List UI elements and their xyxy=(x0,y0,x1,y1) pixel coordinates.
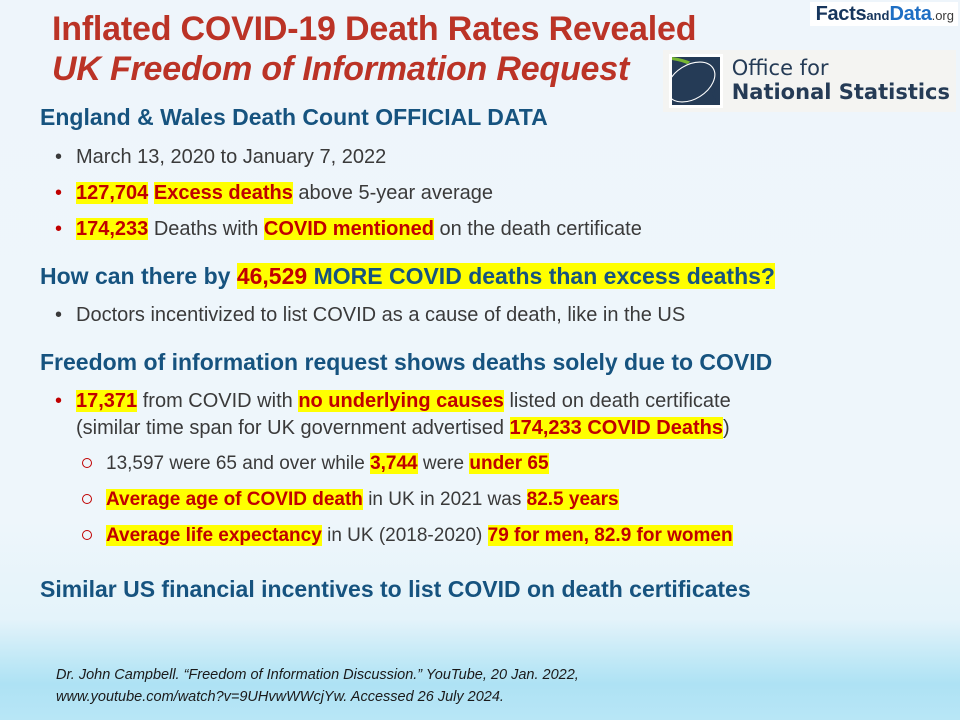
bullet-text: 17,371 from COVID with no underlying cau… xyxy=(76,390,930,441)
heading-question: How can there by 46,529 MORE COVID death… xyxy=(40,263,930,291)
brand-facts-text: Facts xyxy=(816,3,867,25)
bullet-no-underlying-causes: • 17,371 from COVID with no underlying c… xyxy=(40,388,930,441)
bullet-dot-icon: • xyxy=(55,144,62,170)
subbullet-text: 13,597 were 65 and over while 3,744 were… xyxy=(106,453,549,474)
bullet-dot-icon: • xyxy=(55,180,62,206)
bullet-doctors-incentivized: • Doctors incentivized to list COVID as … xyxy=(40,302,930,328)
heading-foi: Freedom of information request shows dea… xyxy=(40,349,930,377)
bullet-covid-mentioned: • 174,233 Deaths with COVID mentioned on… xyxy=(40,216,930,242)
official-bullet-list: • March 13, 2020 to January 7, 2022 • 12… xyxy=(40,144,930,243)
subbullet-circle-icon xyxy=(82,458,92,468)
brand-org-text: .org xyxy=(932,8,954,23)
bullet-text: 174,233 Deaths with COVID mentioned on t… xyxy=(76,218,642,240)
question-bullet-list: • Doctors incentivized to list COVID as … xyxy=(40,302,930,328)
citation-line-2: www.youtube.com/watch?v=9UHvwWWcjYw. Acc… xyxy=(56,686,579,708)
factsanddata-logo[interactable]: FactsandData.org xyxy=(810,2,958,26)
title-line-1: Inflated COVID-19 Death Rates Revealed xyxy=(52,10,752,50)
bullet-dot-icon: • xyxy=(55,302,62,328)
brand-data-text: Data xyxy=(889,3,931,25)
subbullet-life-expectancy: Average life expectancy in UK (2018-2020… xyxy=(40,524,930,549)
bullet-dot-icon: • xyxy=(55,216,62,242)
brand-and-text: and xyxy=(866,8,889,23)
bullet-text: March 13, 2020 to January 7, 2022 xyxy=(76,146,386,168)
slide-canvas: FactsandData.org Office for National Sta… xyxy=(0,0,960,720)
ons-logo-line2: National Statistics xyxy=(732,80,950,104)
citation: Dr. John Campbell. “Freedom of Informati… xyxy=(56,664,579,709)
bullet-text: 127,704 Excess deaths above 5-year avera… xyxy=(76,182,493,204)
title-line-2: UK Freedom of Information Request xyxy=(52,50,752,90)
heading-us-incentives: Similar US financial incentives to list … xyxy=(40,576,930,604)
subbullet-text: Average age of COVID death in UK in 2021… xyxy=(106,489,619,510)
subbullet-circle-icon xyxy=(82,494,92,504)
bullet-excess-deaths: • 127,704 Excess deaths above 5-year ave… xyxy=(40,180,930,206)
subbullet-circle-icon xyxy=(82,530,92,540)
bullet-dot-icon: • xyxy=(55,388,62,414)
subbullet-average-age: Average age of COVID death in UK in 2021… xyxy=(40,488,930,513)
title-block: Inflated COVID-19 Death Rates Revealed U… xyxy=(52,10,752,90)
bullet-text-line2: (similar time span for UK government adv… xyxy=(76,415,930,441)
subbullet-age-breakdown: 13,597 were 65 and over while 3,744 were… xyxy=(40,452,930,477)
subbullet-text: Average life expectancy in UK (2018-2020… xyxy=(106,525,733,546)
heading-official-data: England & Wales Death Count OFFICIAL DAT… xyxy=(40,104,930,132)
body-block: England & Wales Death Count OFFICIAL DAT… xyxy=(40,104,930,604)
foi-bullet-list: • 17,371 from COVID with no underlying c… xyxy=(40,388,930,548)
ons-logo-text: Office for National Statistics xyxy=(732,57,950,105)
bullet-text: Doctors incentivized to list COVID as a … xyxy=(76,304,685,326)
citation-line-1: Dr. John Campbell. “Freedom of Informati… xyxy=(56,664,579,686)
bullet-date-range: • March 13, 2020 to January 7, 2022 xyxy=(40,144,930,170)
